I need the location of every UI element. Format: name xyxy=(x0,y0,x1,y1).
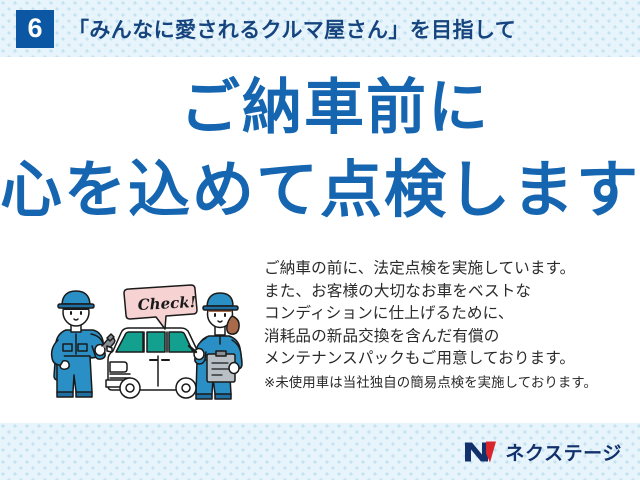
mechanics-illustration: Check! xyxy=(46,268,260,410)
description-line-1: ご納車の前に、法定点検を実施しています。 xyxy=(264,258,628,281)
check-bubble-label: Check! xyxy=(137,293,196,314)
page-title: ご納車前に 心を込めて点検します xyxy=(0,78,640,222)
description-line-2: また、お客様の大切なお車をベストな xyxy=(264,281,628,304)
nexstage-n-logo-icon xyxy=(464,440,498,464)
page-title-line1: ご納車前に xyxy=(0,78,640,138)
header-band: 6 「みんなに愛されるクルマ屋さん」を目指して xyxy=(0,0,640,57)
description-line-5: メンテナンスパックもご用意しております。 xyxy=(264,348,628,371)
description-text: ご納車の前に、法定点検を実施しています。 また、お客様の大切なお車をベストな コ… xyxy=(264,258,628,393)
footer-band: ネクステージ xyxy=(0,423,640,480)
description-note: ※未使用車は当社独自の簡易点検を実施しております。 xyxy=(264,373,628,393)
header-title: 「みんなに愛されるクルマ屋さん」を目指して xyxy=(68,14,516,44)
description-line-3: コンディションに仕上げるために、 xyxy=(264,303,628,326)
page-title-line2: 心を込めて点検します xyxy=(0,160,640,222)
section-number-badge: 6 xyxy=(16,10,54,48)
brand-name: ネクステージ xyxy=(505,438,622,465)
van-illustration xyxy=(106,328,203,398)
brand-logo: ネクステージ xyxy=(464,438,622,465)
description-line-4: 消耗品の新品交換を含んだ有償の xyxy=(264,326,628,349)
header-content: 6 「みんなに愛されるクルマ屋さん」を目指して xyxy=(0,0,640,57)
